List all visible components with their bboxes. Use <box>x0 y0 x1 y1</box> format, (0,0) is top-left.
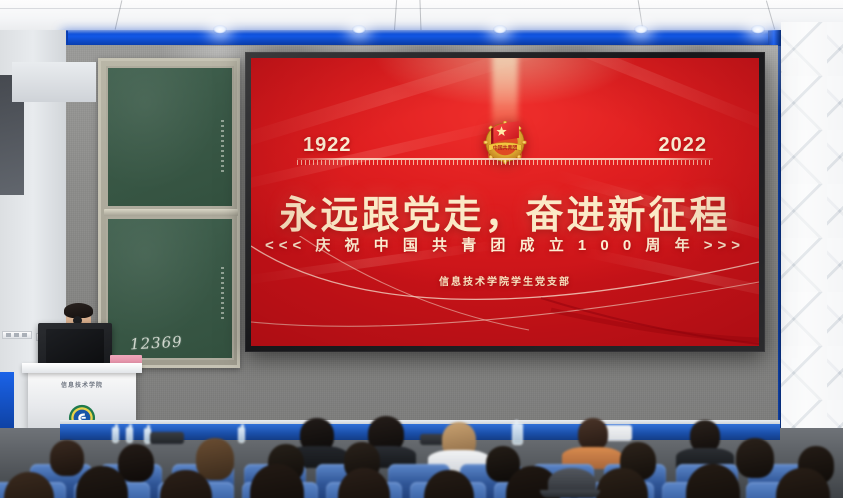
ceiling-downlight <box>751 25 765 34</box>
podium-top-surface <box>22 363 142 373</box>
ceiling-blue-band <box>62 30 780 46</box>
water-bottle <box>512 423 523 445</box>
svg-text:中国共青团: 中国共青团 <box>493 145 518 152</box>
water-bottle <box>112 427 119 443</box>
audience-head <box>196 438 234 480</box>
water-bottle <box>238 427 245 443</box>
chalkboard-panel-upper <box>106 66 234 208</box>
cap-brim <box>540 490 600 498</box>
century-timeline <box>297 158 713 160</box>
ceiling-seam <box>394 0 397 32</box>
ceiling-downlight <box>352 25 366 34</box>
ceiling-seam <box>115 0 123 29</box>
audience-head <box>50 440 84 476</box>
audience-head <box>578 418 608 450</box>
podium-base <box>12 62 96 102</box>
podium-label: 信息技术学院 <box>28 380 136 389</box>
lecture-hall-scene: 12369 <box>0 0 843 498</box>
led-display-bezel: 中国共青团 1922 2022 永远跟党走，奋进新征程 <<< 庆 祝 中 国 … <box>245 52 765 352</box>
chalkboard-track-dots <box>221 120 224 172</box>
chalkboard-track-dots <box>221 267 224 319</box>
slide-headline: 永远跟党走，奋进新征程 <box>251 184 759 239</box>
year-end: 2022 <box>659 134 708 157</box>
ceiling-downlight <box>493 25 507 34</box>
ceiling-downlight <box>213 25 227 34</box>
ceiling-downlight <box>634 25 648 34</box>
right-wall-panel <box>781 22 843 437</box>
slide-organization: 信息技术学院学生党支部 <box>251 273 759 288</box>
slide-subtitle: <<< 庆 祝 中 国 共 青 团 成 立 1 0 0 周 年 >>> <box>251 234 759 255</box>
audience-head <box>118 444 154 482</box>
dark-jacket <box>150 432 184 444</box>
water-bottle <box>126 427 133 443</box>
ceiling-seam-horizontal <box>0 8 843 9</box>
year-start: 1922 <box>303 134 352 157</box>
ceiling <box>0 0 843 34</box>
chalkboard-rail <box>104 209 238 216</box>
ceiling-seam <box>766 0 775 29</box>
audience-layer <box>0 420 843 498</box>
chalkboard-panel-lower: 12369 <box>106 217 234 360</box>
ceiling-seam <box>419 0 421 32</box>
presentation-slide: 中国共青团 1922 2022 永远跟党走，奋进新征程 <<< 庆 祝 中 国 … <box>251 58 759 346</box>
wall-switch-plate[interactable] <box>2 331 32 339</box>
chalkboard: 12369 <box>98 58 240 368</box>
audience-head <box>736 438 774 478</box>
chalkboard-writing: 12369 <box>130 333 184 354</box>
hexagon-wall-texture <box>781 22 843 437</box>
